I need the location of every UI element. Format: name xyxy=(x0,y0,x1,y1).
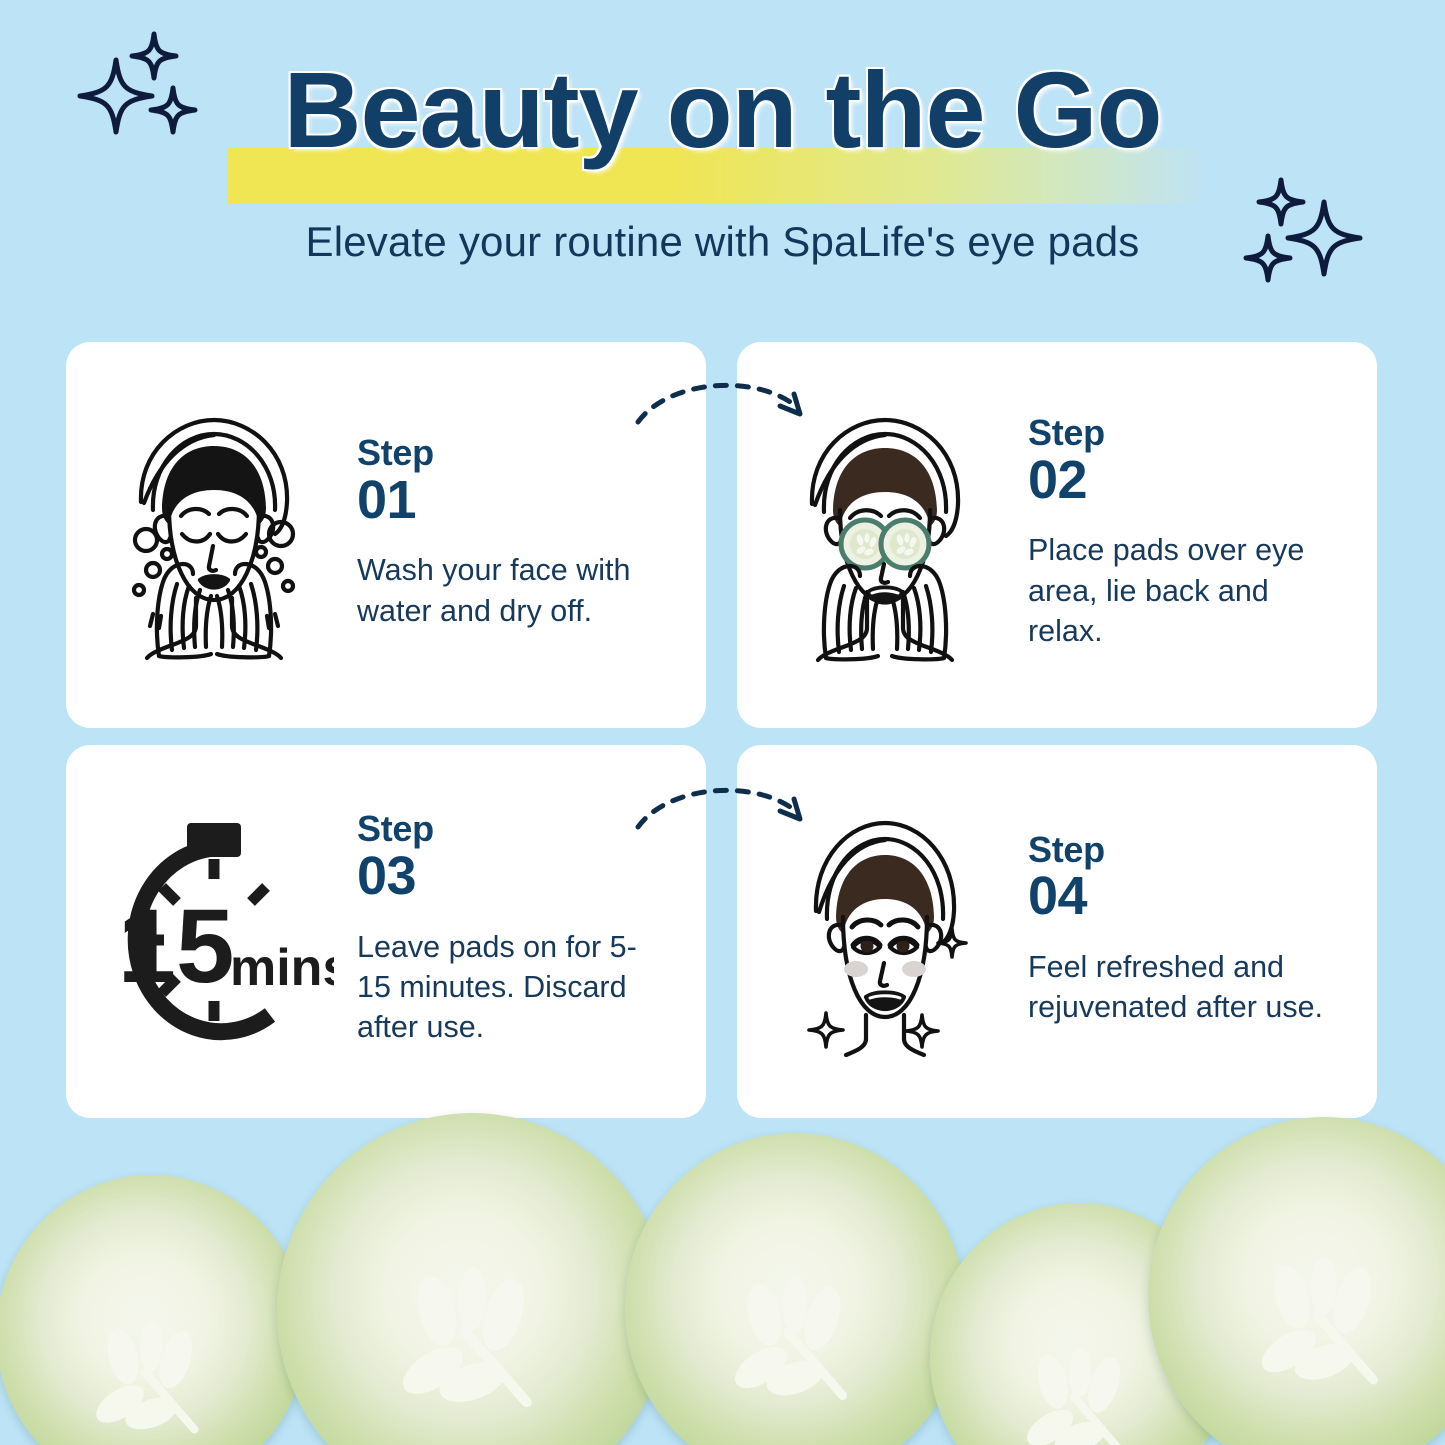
step-card-01[interactable]: Step 01 Wash your face with water and dr… xyxy=(66,342,706,728)
step-number: 02 xyxy=(1028,452,1351,509)
step-card-03-text: Step 03 Leave pads on for 5-15 minutes. … xyxy=(341,811,680,1051)
step-label: Step xyxy=(357,811,680,848)
step-description: Leave pads on for 5-15 minutes. Discard … xyxy=(357,927,657,1048)
sparkle-cluster-right-icon xyxy=(1232,172,1392,302)
step-number: 04 xyxy=(1028,868,1351,925)
step-label: Step xyxy=(1028,832,1351,869)
step-card-02-text: Step 02 Place pads over eye area, lie ba… xyxy=(1012,415,1351,655)
step-label: Step xyxy=(357,435,680,472)
cucumber-slice xyxy=(277,1113,667,1445)
step-number: 01 xyxy=(357,472,680,529)
step-description: Feel refreshed and rejuvenated after use… xyxy=(1028,947,1351,1028)
cucumber-slice-row xyxy=(0,1105,1445,1445)
step-card-04-text: Step 04 Feel refreshed and rejuvenated a… xyxy=(1012,832,1351,1032)
header: Beauty on the Go Elevate your routine wi… xyxy=(0,0,1445,320)
step-card-04[interactable]: Step 04 Feel refreshed and rejuvenated a… xyxy=(737,745,1377,1118)
woman-with-eye-pads-icon xyxy=(757,403,1012,668)
step-label: Step xyxy=(1028,415,1351,452)
cucumber-slice xyxy=(0,1175,306,1445)
sparkle-cluster-left-icon xyxy=(72,28,222,173)
step-card-03[interactable]: 15 mins Step 03 Leave pads on for 5-15 m… xyxy=(66,745,706,1118)
woman-washing-face-icon xyxy=(86,403,341,668)
cucumber-slice xyxy=(625,1133,965,1445)
timer-value: 15 xyxy=(117,888,234,1005)
stopwatch-15mins-icon: 15 mins xyxy=(86,799,341,1064)
step-description: Wash your face with water and dry off. xyxy=(357,550,657,631)
step-card-02[interactable]: Step 02 Place pads over eye area, lie ba… xyxy=(737,342,1377,728)
step-card-01-text: Step 01 Wash your face with water and dr… xyxy=(341,435,680,635)
refreshed-face-icon xyxy=(757,799,1012,1064)
infographic-page: Beauty on the Go Elevate your routine wi… xyxy=(0,0,1445,1445)
timer-unit: mins xyxy=(230,939,334,997)
cucumber-slice xyxy=(1148,1117,1445,1445)
step-description: Place pads over eye area, lie back and r… xyxy=(1028,530,1328,651)
step-number: 03 xyxy=(357,848,680,905)
page-subtitle: Elevate your routine with SpaLife's eye … xyxy=(0,218,1445,266)
